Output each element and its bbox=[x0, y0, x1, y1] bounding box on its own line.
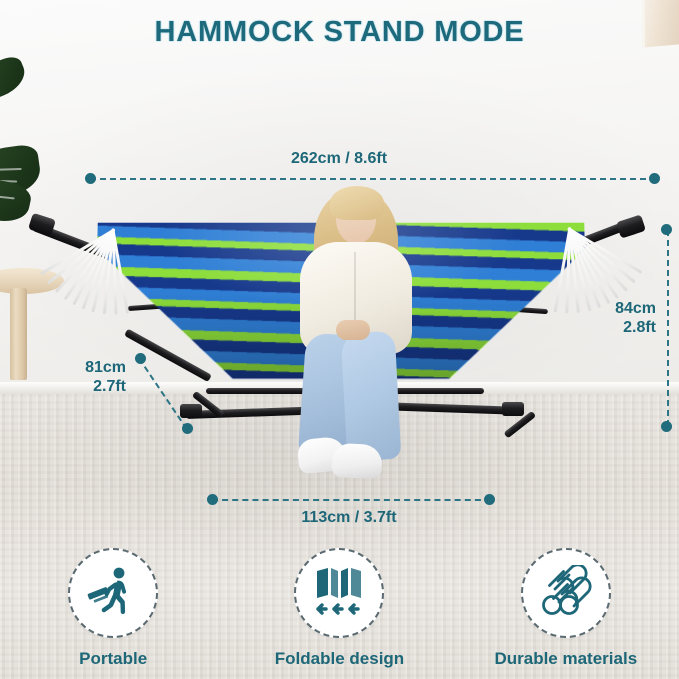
dimension-label-height-cm: 84cm bbox=[600, 300, 656, 319]
dimension-endpoint-base-left bbox=[207, 494, 218, 505]
hoodie-zipper bbox=[354, 252, 356, 330]
dimension-label-base: 113cm / 3.7ft bbox=[249, 509, 449, 528]
dimension-line-base bbox=[212, 499, 491, 501]
dimension-label-leg-depth: 81cm 2.7ft bbox=[62, 359, 126, 396]
dimension-endpoint-width-right bbox=[649, 173, 660, 184]
feature-durable-materials[interactable]: Durable materials bbox=[466, 548, 666, 669]
feature-list: Portable bbox=[0, 548, 679, 672]
dimension-endpoint-height-top bbox=[661, 224, 672, 235]
feature-portable[interactable]: Portable bbox=[13, 548, 213, 669]
dimension-label-height-ft: 2.8ft bbox=[600, 319, 656, 338]
frame-foot-left bbox=[180, 404, 202, 418]
frame-head-left bbox=[28, 213, 56, 237]
dimension-label-leg-ft: 2.7ft bbox=[62, 378, 126, 397]
dimension-label-width: 262cm / 8.6ft bbox=[239, 150, 439, 169]
dimension-label-height: 84cm 2.8ft bbox=[600, 300, 656, 337]
feature-foldable-design[interactable]: Foldable design bbox=[239, 548, 439, 669]
page-title: HAMMOCK STAND MODE bbox=[0, 16, 679, 49]
feature-label-durable-materials: Durable materials bbox=[494, 649, 637, 669]
dimension-endpoint-leg-bottom bbox=[182, 423, 193, 434]
feature-label-portable: Portable bbox=[79, 649, 147, 669]
dimension-endpoint-height-bottom bbox=[661, 421, 672, 432]
feature-icon-wrapper bbox=[521, 548, 611, 638]
feature-icon-wrapper bbox=[68, 548, 158, 638]
folding-panels-arrows-icon bbox=[311, 565, 367, 622]
dimension-endpoint-base-right bbox=[484, 494, 495, 505]
frame-foot-right bbox=[502, 402, 524, 416]
dimension-endpoint-width-left bbox=[85, 173, 96, 184]
model-hands bbox=[336, 320, 370, 340]
dimension-label-leg-cm: 81cm bbox=[62, 359, 126, 378]
model-jeans-right bbox=[341, 331, 402, 462]
model-hair-front bbox=[330, 186, 384, 220]
dimension-line-height bbox=[667, 230, 669, 426]
product-infographic: HAMMOCK STAND MODE 262cm / 8.6ft 84cm 2.… bbox=[0, 0, 679, 679]
dimension-line-width bbox=[90, 178, 656, 180]
dimension-endpoint-leg-top bbox=[135, 353, 146, 364]
frame-head-right bbox=[616, 214, 646, 238]
stacked-steel-tubes-icon bbox=[538, 565, 594, 622]
person-carrying-folded-stand-icon bbox=[86, 566, 140, 621]
feature-icon-wrapper bbox=[294, 548, 384, 638]
feature-label-foldable-design: Foldable design bbox=[275, 649, 404, 669]
model-sitting-in-hammock bbox=[292, 186, 420, 480]
